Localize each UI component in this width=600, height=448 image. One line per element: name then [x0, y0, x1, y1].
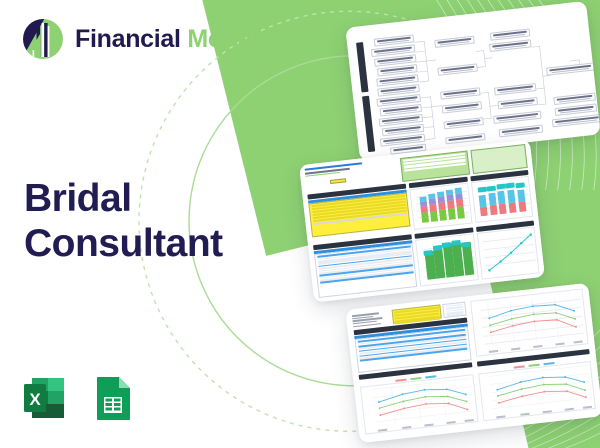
panel-trend-chart-1: [470, 288, 589, 358]
cash-label-20X1: [423, 250, 433, 256]
assumptions-calc-cells: [442, 302, 466, 318]
bar-20X5: [455, 187, 465, 219]
combo-chart-profitability: [471, 176, 534, 223]
data-label-20X2: [487, 185, 497, 191]
combo-bar-20X2: [488, 192, 497, 215]
brand-name-part1: Financial: [75, 25, 187, 53]
dashboard-input-cell[interactable]: [330, 178, 346, 184]
panel-profitability-chart: [470, 170, 533, 224]
data-label-20X1: [477, 187, 487, 193]
financial-dashboard-card[interactable]: [299, 139, 545, 302]
trend-2-series: [361, 375, 477, 436]
combo-bar-20X1: [479, 194, 488, 216]
page-title-line2: Consultant: [24, 221, 223, 266]
bar-20X1: [420, 196, 430, 223]
panel-cash-flow-table: [307, 184, 411, 243]
promo-banner: Financial Model Bridal Consultant X: [0, 0, 600, 448]
dashboard-canvas: [299, 139, 545, 302]
panel-key-measures-chart: [409, 177, 472, 231]
combo-bar-20X3: [498, 191, 508, 215]
dupont-ratio-flowchart-card[interactable]: [345, 1, 600, 161]
data-label-20X4: [506, 183, 516, 189]
panel-sales-growth-chart: [415, 227, 479, 287]
line-chart-investment-payback: [476, 227, 539, 280]
trend-3-series: [479, 362, 595, 423]
panel-investment-payback-chart: [476, 221, 540, 281]
cash-label-20X4: [451, 240, 461, 246]
brand-name-part2: Model: [187, 25, 258, 53]
google-sheets-icon[interactable]: [86, 372, 138, 424]
panel-key-financials-table: [313, 234, 418, 299]
payback-line-series: [477, 228, 538, 278]
cash-label-20X5: [461, 242, 471, 248]
combo-bar-20X4: [507, 189, 517, 213]
bar-chart-cash-flow: [415, 233, 478, 286]
dashboard-kpi-green-table: [470, 144, 528, 174]
flowchart-canvas: [351, 9, 595, 154]
assumption-labels: [352, 310, 391, 328]
circular-bar-chart-logo-icon: [22, 18, 64, 60]
data-label-20X3: [496, 184, 506, 190]
sensitivity-charts-card[interactable]: [345, 283, 600, 443]
page-title-line1: Bridal: [24, 176, 223, 221]
line-chart-sensitivity-1: [470, 288, 589, 356]
panel-trend-chart-3: [476, 349, 596, 423]
data-label-20X5: [515, 182, 525, 188]
trend-1-series: [471, 290, 588, 359]
panel-assumptions-table: [352, 302, 471, 372]
charts-canvas: [345, 283, 600, 443]
file-format-icons: X: [18, 372, 138, 424]
stacked-bar-chart-profitability: [410, 183, 473, 230]
microsoft-excel-icon[interactable]: X: [18, 372, 70, 424]
brand-name: Financial Model: [75, 25, 258, 54]
page-title: Bridal Consultant: [24, 176, 223, 266]
combo-bar-20X5: [517, 189, 526, 212]
svg-text:X: X: [29, 390, 41, 409]
panel-trend-chart-2: [359, 362, 479, 436]
brand-logo[interactable]: Financial Model: [22, 18, 258, 60]
